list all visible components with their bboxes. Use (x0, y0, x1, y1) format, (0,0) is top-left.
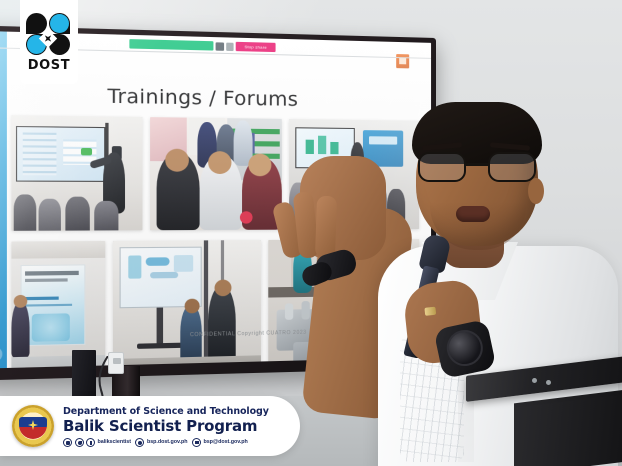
dost-logo-badge: DOST (20, 0, 78, 84)
event-photo-scene: Stop share STAKEHOLDER ENGAGEMENTS Train… (0, 0, 622, 466)
confidential-note: CONFIDENTIAL Copyright CUATRO 2023 (190, 330, 307, 339)
toolbar-chip-1[interactable] (216, 42, 224, 51)
wall-outlet (108, 352, 124, 374)
twitter-icon[interactable] (75, 438, 84, 447)
slide-title: Trainings / Forums (107, 85, 298, 111)
dost-logo-grid (26, 13, 70, 55)
social-handle-facebook: balikscientist (98, 439, 131, 445)
social-handle-email: bsp@dost.gov.ph (203, 439, 247, 445)
glasses-bridge (466, 163, 488, 166)
website-icon[interactable] (135, 438, 144, 447)
lectern (466, 356, 622, 466)
speaker-mouth (456, 206, 490, 222)
social-row: balikscientist bsp.dost.gov.ph bsp@dost.… (63, 438, 269, 447)
lectern-body (514, 389, 622, 466)
program-name: Balik Scientist Program (63, 417, 269, 435)
dost-wordmark: DOST (26, 58, 72, 73)
philippines-seal-icon (12, 405, 54, 447)
toolbar-chip-2[interactable] (226, 42, 233, 50)
finger-ring (424, 307, 436, 316)
raised-hand (300, 156, 386, 260)
dost-logo-icon: DOST (26, 13, 72, 71)
slide-photo-2 (150, 117, 282, 230)
lectern-screws (532, 378, 537, 383)
facebook-icon[interactable] (86, 438, 95, 447)
mail-icon[interactable] (192, 438, 201, 447)
social-handle-website: bsp.dost.gov.ph (147, 439, 187, 445)
instagram-icon[interactable] (63, 438, 72, 447)
lens-right (488, 152, 536, 182)
dost-quadrant-1 (26, 13, 47, 34)
slide-photo-1 (11, 115, 142, 231)
stop-share-button[interactable]: Stop share (236, 42, 276, 52)
screen-share-indicator (129, 39, 213, 51)
department-name: Department of Science and Technology (63, 406, 269, 417)
dost-cyan-circle-2 (50, 14, 69, 33)
slide-side-rail: STAKEHOLDER ENGAGEMENTS (0, 31, 7, 369)
footer-brand-banner: Department of Science and Technology Bal… (0, 396, 300, 456)
finger-3 (315, 196, 337, 259)
side-rail-mark (0, 347, 2, 362)
lens-left (418, 152, 466, 182)
footer-text-block: Department of Science and Technology Bal… (63, 406, 269, 447)
eyeglasses-icon (418, 152, 536, 182)
